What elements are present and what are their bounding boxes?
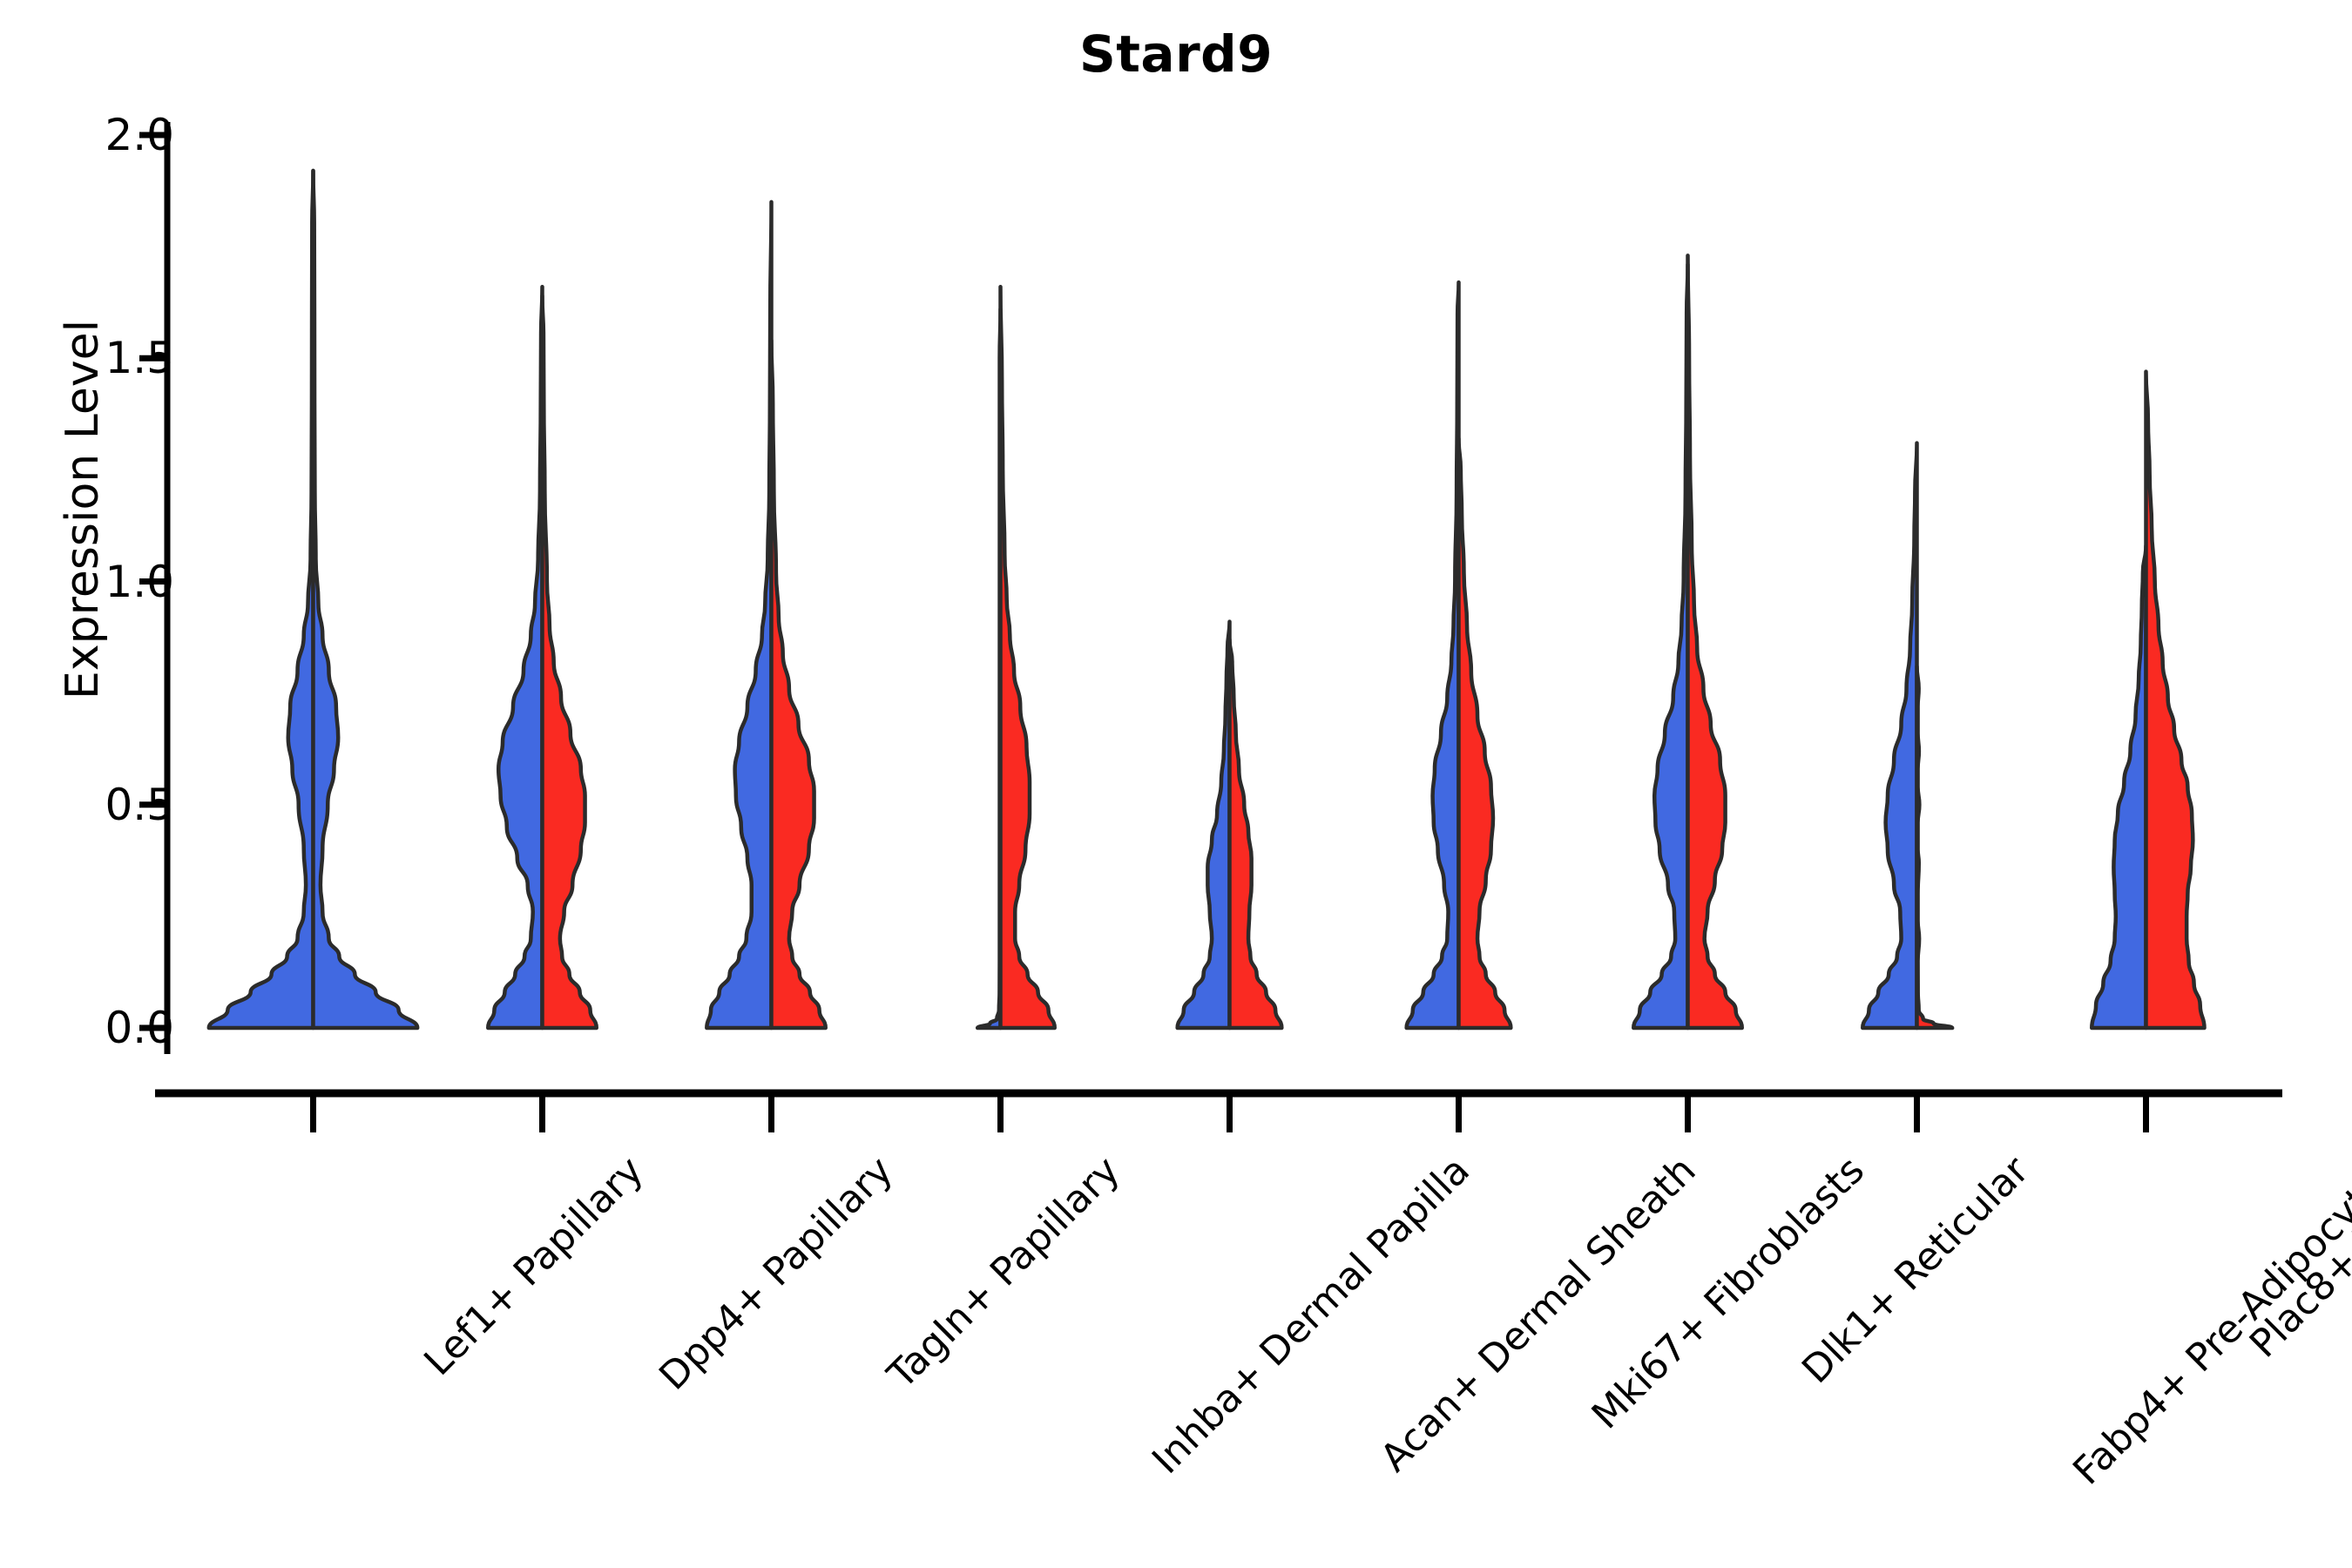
- violin-half-group_a[interactable]: [314, 171, 418, 1028]
- violin-half-group_a[interactable]: [977, 309, 1000, 1028]
- violin-half-group_b[interactable]: [1459, 439, 1511, 1029]
- violin-half-group_b[interactable]: [1001, 287, 1055, 1028]
- violin-layer: [209, 171, 2205, 1028]
- violin-half-group_a[interactable]: [706, 202, 771, 1028]
- violin-half-group_b[interactable]: [1688, 255, 1742, 1028]
- violin-plot-canvas: [0, 0, 2352, 1568]
- violin-half-group_a[interactable]: [1407, 282, 1459, 1028]
- violin-half-group_a[interactable]: [209, 171, 314, 1028]
- violin-half-group_a[interactable]: [1862, 443, 1916, 1028]
- violin-half-group_a[interactable]: [2092, 546, 2146, 1029]
- violin-half-group_b[interactable]: [1917, 666, 1953, 1028]
- violin-half-group_b[interactable]: [1230, 639, 1282, 1028]
- violin-half-group_b[interactable]: [772, 341, 826, 1028]
- violin-half-group_b[interactable]: [2146, 372, 2205, 1028]
- violin-plot-figure: Stard9 Expression Level 0.00.51.01.52.0 …: [0, 0, 2352, 1568]
- violin-half-group_a[interactable]: [488, 287, 542, 1028]
- violin-half-group_a[interactable]: [1633, 265, 1687, 1028]
- violin-half-group_b[interactable]: [543, 296, 597, 1029]
- violin-half-group_a[interactable]: [1178, 622, 1230, 1028]
